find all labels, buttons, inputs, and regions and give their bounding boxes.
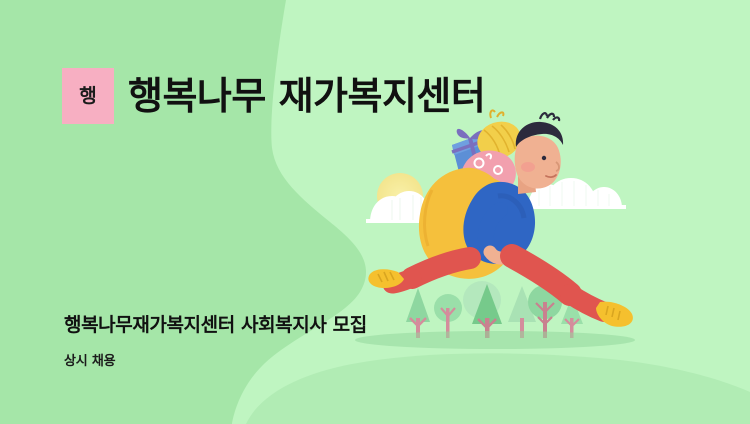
banner-header: 행 행복나무 재가복지센터 xyxy=(62,68,485,124)
logo-badge: 행 xyxy=(62,68,114,124)
banner-copy: 행복나무재가복지센터 사회복지사 모집 상시 채용 xyxy=(64,316,367,368)
man-eye xyxy=(542,156,546,160)
recruitment-subline: 상시 채용 xyxy=(64,355,367,368)
recruitment-headline: 행복나무재가복지센터 사회복지사 모집 xyxy=(64,316,367,335)
organization-title: 행복나무 재가복지센터 xyxy=(128,77,485,115)
man-cheek xyxy=(521,162,535,172)
tree-ground-texture xyxy=(355,331,635,349)
recruitment-banner: 행 행복나무 재가복지센터 행복나무재가복지센터 사회복지사 모집 상시 채용 xyxy=(0,0,750,424)
logo-badge-char: 행 xyxy=(79,87,96,106)
